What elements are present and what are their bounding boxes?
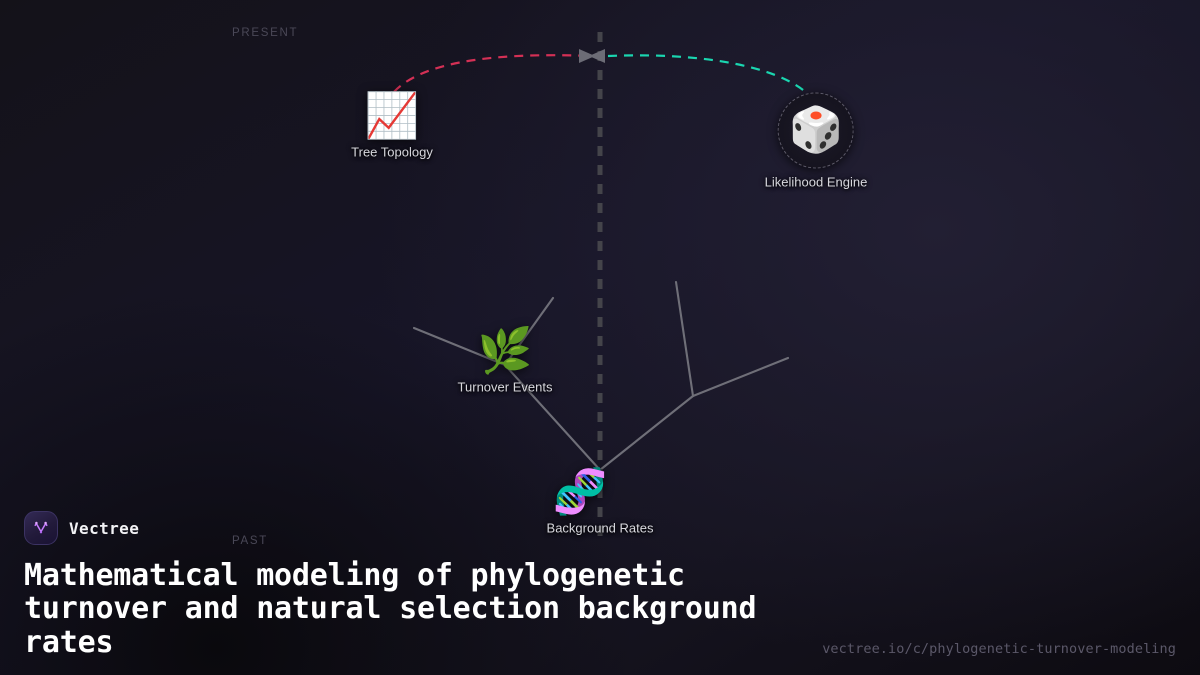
brand[interactable]: Vectree <box>24 511 1176 545</box>
brand-name: Vectree <box>69 519 139 538</box>
herb-icon: 🌿 <box>478 330 533 374</box>
branch-root-right <box>600 396 693 470</box>
vectree-logo-icon <box>24 511 58 545</box>
chart-increasing-icon: 📈 <box>365 95 420 139</box>
site-url: vectree.io/c/phylogenetic-turnover-model… <box>822 641 1176 657</box>
node-label: Likelihood Engine <box>765 175 868 190</box>
branch-right-up <box>676 282 693 396</box>
node-label: Tree Topology <box>351 145 433 160</box>
page-title: Mathematical modeling of phylogenetic tu… <box>24 559 784 659</box>
branch-right-upright <box>693 358 788 396</box>
dna-icon: 🧬 <box>553 471 608 515</box>
game-die-icon: 🎲 <box>778 93 854 169</box>
node-turnover-events[interactable]: 🌿 Turnover Events <box>458 330 553 395</box>
node-label: Turnover Events <box>458 380 553 395</box>
node-likelihood-engine[interactable]: 🎲 Likelihood Engine <box>765 93 868 190</box>
era-label-present: PRESENT <box>232 27 298 39</box>
node-tree-topology[interactable]: 📈 Tree Topology <box>351 95 433 160</box>
screenshot-root: PRESENT PAST 📈 Tree Topology 🎲 Likelihoo… <box>0 0 1200 675</box>
flow-arrow-right-icon <box>589 49 605 63</box>
